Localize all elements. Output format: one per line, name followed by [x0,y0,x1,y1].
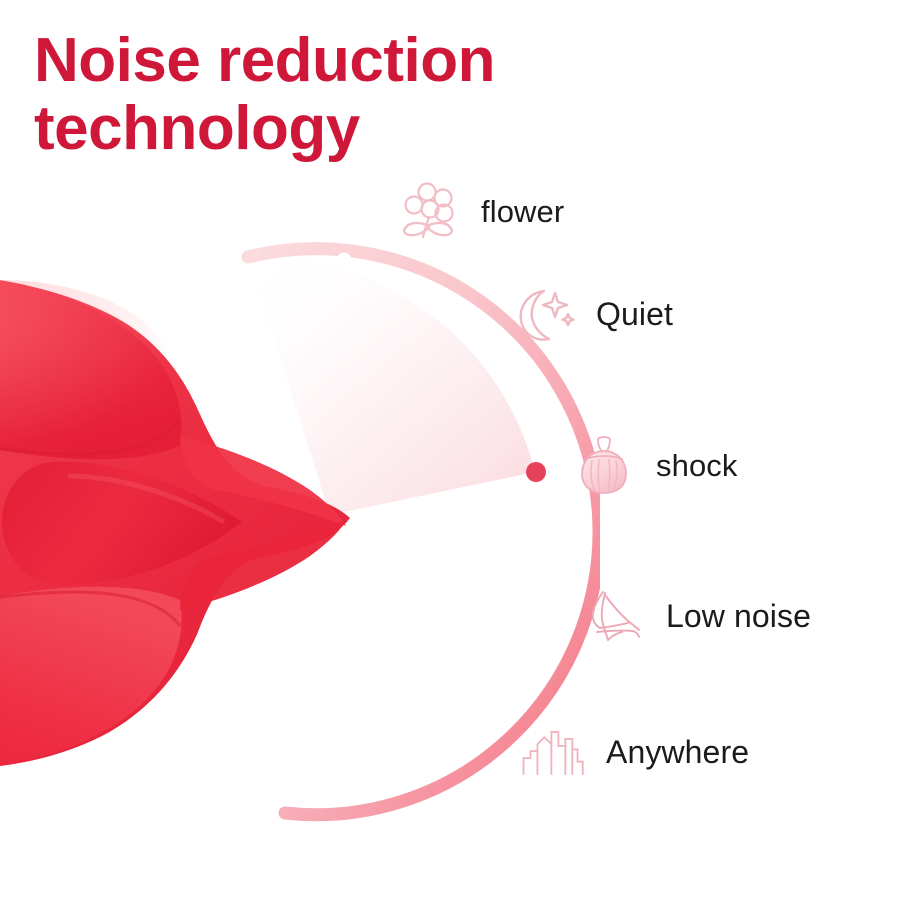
page-title: Noise reduction technology [34,27,634,163]
feature-item-shock[interactable]: shock [570,432,737,500]
feature-item-quiet[interactable]: Quiet [510,280,673,348]
title-line-2: technology [34,95,634,163]
toy-lower-petal [0,587,182,771]
rose-bud-icon [570,432,638,500]
crescent-moon-icon [510,280,578,348]
feature-item-anywhere[interactable]: Anywhere [520,718,749,786]
toy-upper-petal [0,276,182,460]
dial-marker-flower[interactable] [337,253,352,268]
feature-label-low-noise: Low noise [666,598,811,635]
feature-label-anywhere: Anywhere [606,734,749,771]
sound-wave-icon [580,582,648,650]
feature-list: flower Quiet [395,170,900,820]
feature-label-quiet: Quiet [596,296,673,333]
toy-sheen [0,280,170,460]
title-line-1: Noise reduction [34,27,634,95]
flower-icon [395,178,463,246]
product-infographic: Noise reduction technology [0,0,900,900]
city-skyline-icon [520,718,588,786]
toy-upper-fold [0,418,180,454]
feature-item-flower[interactable]: flower [395,178,564,246]
toy-tongue-tip [2,462,242,585]
feature-label-flower: flower [481,194,564,230]
feature-label-shock: shock [656,448,737,484]
feature-item-low-noise[interactable]: Low noise [580,582,811,650]
toy-lower-fold [0,592,180,628]
toy-tongue-highlight [68,476,224,522]
